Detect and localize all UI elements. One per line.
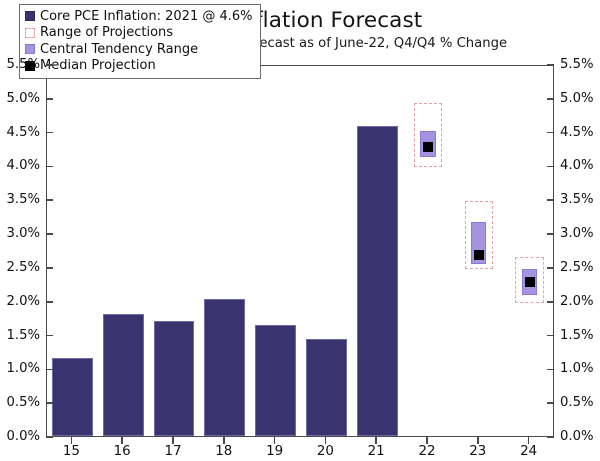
bar-17 [154,321,195,436]
range-swatch [25,28,35,38]
central-tendency-swatch [25,44,35,54]
y-axis-tick-right [547,301,554,303]
y-axis-tick-right [547,267,554,269]
y-axis-label-left: 5.5% [0,58,40,71]
y-axis-tick-left [46,301,53,303]
y-axis-tick-left [46,199,53,201]
x-axis-tick [223,437,225,444]
legend-item: Central Tendency Range [25,41,253,58]
x-axis-label: 24 [509,444,549,459]
x-axis-tick [121,437,123,444]
y-axis-tick-left [46,267,53,269]
y-axis-label-left: 5.0% [0,92,40,105]
y-axis-label-right: 2.5% [560,261,600,274]
y-axis-label-left: 0.0% [0,430,40,443]
x-axis-label: 16 [102,444,142,459]
x-axis-label: 20 [305,444,345,459]
y-axis-tick-right [547,335,554,337]
y-axis-tick-left [46,335,53,337]
x-axis-label: 22 [407,444,447,459]
y-axis-tick-right [547,132,554,134]
legend-item: Median Projection [25,58,253,75]
x-axis-tick [528,437,530,444]
median-marker-24 [525,277,535,287]
bar-swatch [25,11,35,21]
y-axis-label-right: 3.0% [560,227,600,240]
x-axis-label: 19 [255,444,295,459]
legend-label: Core PCE Inflation: 2021 @ 4.6% [40,10,253,23]
x-axis-tick [274,437,276,444]
bar-16 [103,314,144,436]
y-axis-label-right: 2.0% [560,295,600,308]
y-axis-label-left: 1.5% [0,329,40,342]
x-axis-label: 15 [51,444,91,459]
legend-label: Median Projection [40,59,156,72]
y-axis-label-left: 3.0% [0,227,40,240]
x-axis-tick [325,437,327,444]
bar-18 [204,299,245,436]
y-axis-label-left: 4.0% [0,159,40,172]
y-axis-tick-right [547,98,554,100]
y-axis-tick-right [547,402,554,404]
x-axis-label: 21 [356,444,396,459]
y-axis-tick-left [46,436,53,438]
x-axis-tick [172,437,174,444]
legend-item: Range of Projections [25,25,253,42]
x-axis-label: 23 [458,444,498,459]
y-axis-label-right: 4.5% [560,126,600,139]
legend-label: Range of Projections [40,26,173,39]
x-axis-label: 17 [153,444,193,459]
median-marker-23 [474,250,484,260]
bar-21 [357,126,398,436]
y-axis-tick-left [46,402,53,404]
y-axis-label-right: 5.5% [560,58,600,71]
y-axis-tick-left [46,98,53,100]
chart-legend: Core PCE Inflation: 2021 @ 4.6%Range of … [19,4,261,79]
y-axis-tick-right [547,166,554,168]
y-axis-label-right: 3.5% [560,193,600,206]
chart-figure: Core Inflation Forecast Fed Central Tend… [0,0,600,461]
bar-15 [52,358,93,436]
x-axis-tick [477,437,479,444]
y-axis-label-right: 5.0% [560,92,600,105]
y-axis-label-left: 3.5% [0,193,40,206]
y-axis-label-right: 1.0% [560,362,600,375]
legend-label: Central Tendency Range [40,43,198,56]
y-axis-label-left: 0.5% [0,396,40,409]
y-axis-tick-right [547,233,554,235]
bar-20 [306,339,347,436]
x-axis-tick [71,437,73,444]
y-axis-tick-right [547,199,554,201]
y-axis-label-left: 2.0% [0,295,40,308]
y-axis-tick-left [46,132,53,134]
y-axis-label-right: 0.0% [560,430,600,443]
median-marker-22 [423,142,433,152]
legend-item: Core PCE Inflation: 2021 @ 4.6% [25,8,253,25]
y-axis-tick-left [46,166,53,168]
y-axis-label-left: 2.5% [0,261,40,274]
x-axis-tick [375,437,377,444]
y-axis-label-right: 0.5% [560,396,600,409]
bar-19 [255,325,296,436]
y-axis-tick-left [46,64,53,66]
y-axis-tick-left [46,233,53,235]
y-axis-label-left: 1.0% [0,362,40,375]
y-axis-tick-left [46,369,53,371]
y-axis-label-left: 4.5% [0,126,40,139]
y-axis-tick-right [547,436,554,438]
x-axis-tick [426,437,428,444]
x-axis-label: 18 [204,444,244,459]
plot-area [46,65,554,437]
y-axis-tick-right [547,369,554,371]
y-axis-tick-right [547,64,554,66]
plot-inner [47,66,553,436]
y-axis-label-right: 4.0% [560,159,600,172]
y-axis-label-right: 1.5% [560,329,600,342]
